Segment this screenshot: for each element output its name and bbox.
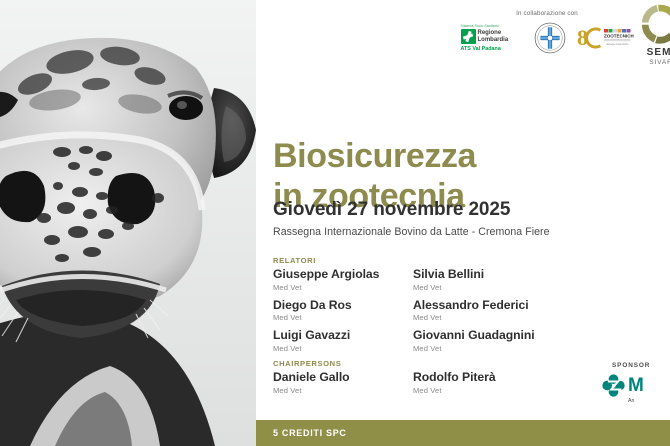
list-item: Diego Da Ros Med Vet	[273, 299, 413, 323]
person-role: Med Vet	[413, 313, 657, 322]
event-venue: Rassegna Internazionale Bovino da Latte …	[273, 226, 550, 238]
person-name: Alessandro Federici	[413, 299, 657, 313]
semi-circle-segments-icon	[639, 2, 670, 46]
person-role: Med Vet	[273, 344, 413, 353]
list-item: Giuseppe Argiolas Med Vet	[273, 268, 413, 292]
cow-photo-image	[0, 0, 256, 446]
cow-photo	[0, 0, 256, 446]
sponsor-label: SPONSOR	[612, 362, 670, 369]
person-role: Med Vet	[273, 386, 413, 395]
person-name: Diego Da Ros	[273, 299, 413, 313]
80-anniversary-icon: 8	[577, 25, 603, 51]
person-name: Giovanni Guadagnini	[413, 329, 657, 343]
person-name: Luigi Gavazzi	[273, 329, 413, 343]
content-panel: In collaborazione con Sistema Socio Sani…	[256, 0, 670, 446]
person-role: Med Vet	[413, 344, 657, 353]
regione-lombardia-logo: Sistema Socio Sanitario Regione Lombardi…	[461, 24, 523, 53]
relatori-section: RELATORI Giuseppe Argiolas Med Vet Silvi…	[273, 256, 657, 353]
sponsor-subtitle: An	[628, 398, 670, 404]
relatori-heading: RELATORI	[273, 256, 657, 265]
sponsor-logo: M	[602, 374, 670, 397]
svg-text:rassegne zootecniche: rassegne zootecniche	[606, 43, 629, 46]
collaboration-block: In collaborazione con Sistema Socio Sani…	[452, 10, 642, 54]
chairpersons-section: CHAIRPERSONS Daniele Gallo Med Vet Rodol…	[273, 359, 657, 395]
person-role: Med Vet	[273, 283, 413, 292]
chairpersons-grid: Daniele Gallo Med Vet Rodolfo Piterà Med…	[273, 371, 657, 395]
list-item: Alessandro Federici Med Vet	[413, 299, 657, 323]
list-item: Giovanni Guadagnini Med Vet	[413, 329, 657, 353]
collaboration-label: In collaborazione con	[452, 10, 642, 17]
person-name: Silvia Bellini	[413, 268, 657, 282]
sponsor-block: SPONSOR M An	[602, 362, 670, 404]
chairpersons-heading: CHAIRPERSONS	[273, 359, 657, 368]
sivar-wordmark: SIVAR	[628, 59, 670, 66]
credits-bar: 5 CREDITI SPC	[256, 420, 670, 446]
semi-sivar-logo: SEMI SIVAR	[628, 2, 670, 66]
relatori-grid: Giuseppe Argiolas Med Vet Silvia Bellini…	[273, 268, 657, 353]
event-date: Giovedì 27 novembre 2025	[273, 199, 510, 221]
lombardia-rose-icon	[461, 29, 476, 44]
collaboration-logos: Sistema Socio Sanitario Regione Lombardi…	[452, 22, 642, 54]
list-item: Silvia Bellini Med Vet	[413, 268, 657, 292]
semi-wordmark: SEMI	[628, 47, 670, 58]
credits-text: 5 CREDITI SPC	[273, 428, 347, 438]
list-item: Daniele Gallo Med Vet	[273, 371, 413, 395]
regione-lombardia-line2: Lombardia	[478, 37, 509, 43]
ats-val-padana-text: ATS Val Padana	[461, 46, 523, 52]
80-zootecniche-logo: 8 ZOOTECNICHE rassegne zootecniche	[577, 25, 634, 51]
person-role: Med Vet	[413, 283, 657, 292]
sponsor-name: M	[628, 376, 643, 395]
list-item: Luigi Gavazzi Med Vet	[273, 329, 413, 353]
regione-lombardia-top-text: Sistema Socio Sanitario	[461, 24, 523, 28]
person-role: Med Vet	[273, 313, 413, 322]
title-line-1: Biosicurezza	[273, 137, 476, 177]
event-poster: In collaborazione con Sistema Socio Sani…	[0, 0, 670, 446]
veterinary-order-seal-icon	[534, 22, 566, 54]
person-name: Giuseppe Argiolas	[273, 268, 413, 282]
msd-cloverleaf-icon	[602, 374, 625, 397]
person-name: Daniele Gallo	[273, 371, 413, 385]
regione-lombardia-line1: Regione	[478, 30, 502, 36]
